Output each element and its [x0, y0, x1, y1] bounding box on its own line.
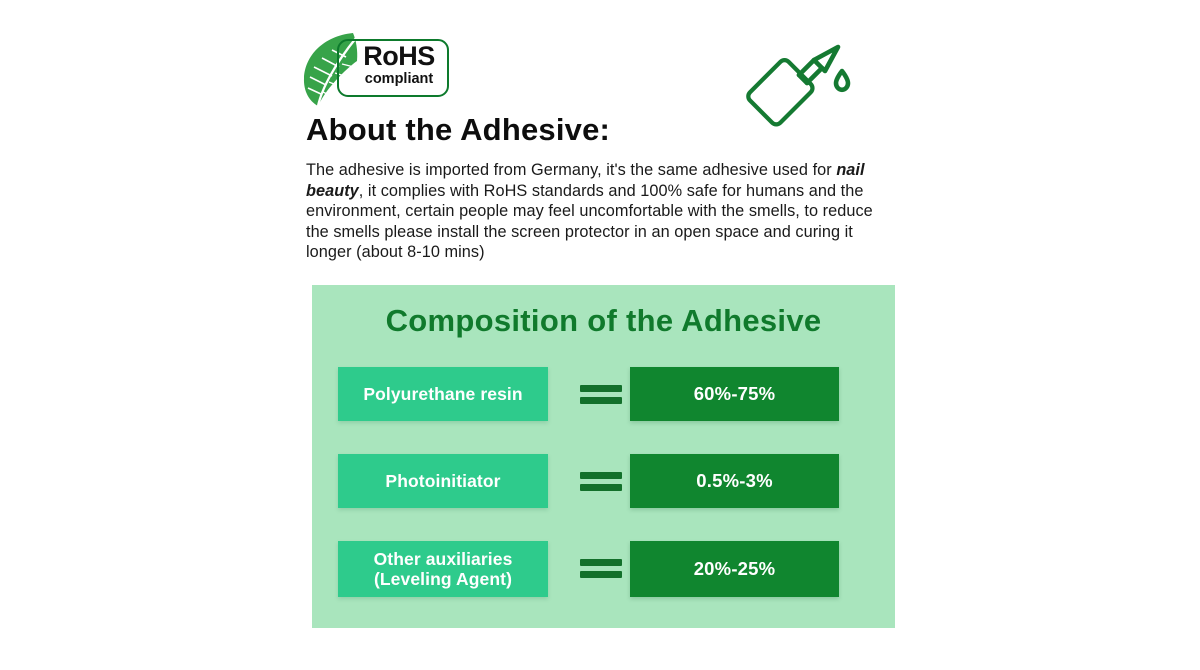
compliant-label: compliant — [353, 71, 445, 87]
paragraph-part-2: , it complies with RoHS standards and 10… — [306, 182, 873, 262]
component-value-box: 0.5%-3% — [630, 454, 839, 508]
rohs-compliant-badge: RoHS compliant — [299, 30, 459, 108]
component-name-box: Polyurethane resin — [338, 367, 548, 421]
equals-icon — [580, 472, 622, 492]
component-name-box: Other auxiliaries (Leveling Agent) — [338, 541, 548, 597]
about-adhesive-paragraph: The adhesive is imported from Germany, i… — [306, 160, 894, 263]
component-name-label: Photoinitiator — [385, 471, 500, 491]
rohs-label: RoHS — [353, 42, 445, 70]
component-value-box: 60%-75% — [630, 367, 839, 421]
composition-heading: Composition of the Adhesive — [312, 303, 895, 339]
composition-panel: Composition of the Adhesive Polyurethane… — [312, 285, 895, 628]
page-title: About the Adhesive: — [306, 112, 610, 148]
glue-bottle-icon — [741, 44, 861, 149]
component-value-box: 20%-25% — [630, 541, 839, 597]
paragraph-part-1: The adhesive is imported from Germany, i… — [306, 161, 836, 179]
composition-row: Photoinitiator 0.5%-3% — [312, 454, 895, 510]
component-value-label: 0.5%-3% — [696, 470, 772, 492]
composition-row: Other auxiliaries (Leveling Agent) 20%-2… — [312, 541, 895, 599]
component-value-label: 60%-75% — [694, 383, 776, 405]
component-name-label: Polyurethane resin — [363, 384, 522, 404]
equals-icon — [580, 559, 622, 579]
component-value-label: 20%-25% — [694, 558, 776, 580]
composition-row: Polyurethane resin 60%-75% — [312, 367, 895, 423]
component-name-box: Photoinitiator — [338, 454, 548, 508]
equals-icon — [580, 385, 622, 405]
component-name-label: Other auxiliaries (Leveling Agent) — [374, 549, 513, 589]
